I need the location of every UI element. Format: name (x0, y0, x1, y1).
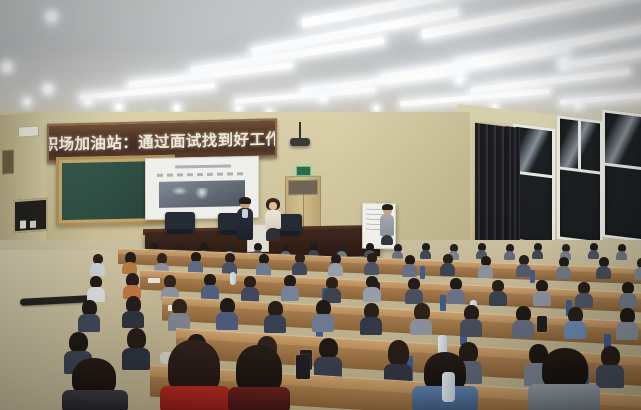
student (222, 253, 237, 273)
student-head (69, 332, 88, 353)
ceiling-downlight (174, 105, 180, 111)
student (188, 252, 203, 272)
event-banner-text: 职场加油站：通过面试找到好工作 (47, 127, 277, 155)
student-head (127, 328, 146, 350)
ceiling-downlight (456, 76, 463, 83)
presenter-in-light-top (264, 199, 282, 241)
wall-picture-frame (2, 150, 14, 175)
student (256, 254, 271, 274)
student (364, 253, 379, 273)
presenter-torso (265, 210, 281, 229)
ceiling-downlight (24, 99, 30, 105)
student (384, 340, 412, 380)
student-head (388, 340, 409, 366)
water-bottle (442, 372, 455, 402)
assistant-torso (380, 214, 394, 236)
ceiling-light-strip (470, 68, 630, 93)
foreground-dark-top (228, 387, 290, 410)
foreground-student-dark-top (228, 345, 290, 410)
student-torso (596, 365, 624, 388)
student-head (601, 346, 620, 367)
exit-sign (296, 166, 311, 176)
niche-item (20, 220, 26, 228)
standing-assistant (379, 205, 395, 245)
ceiling-light-strip (300, 68, 465, 94)
student-head (319, 338, 338, 359)
ceiling-downlight (85, 98, 91, 104)
student (90, 254, 105, 274)
presenter-face (269, 202, 277, 210)
foreground-student-red-top (160, 340, 230, 410)
window-glint (516, 127, 552, 175)
mobile-phone[interactable] (296, 355, 310, 379)
assistant-hair (382, 204, 393, 210)
ceiling-downlight (116, 104, 122, 110)
ceiling-downlight (3, 63, 11, 71)
window-pane (602, 109, 641, 243)
ceiling-downlight (320, 95, 326, 101)
slide-title-line (175, 165, 231, 169)
foreground-top (528, 384, 600, 410)
window-glint (605, 113, 641, 168)
door-transom-window (288, 180, 318, 196)
presenter-hair (239, 197, 251, 204)
ceiling-downlight (576, 102, 581, 107)
foreground-student-left (62, 358, 128, 410)
student (440, 254, 455, 274)
wall-speaker-box (18, 125, 39, 137)
window-glint (560, 119, 600, 172)
student (328, 254, 343, 274)
ceiling-downlight (560, 58, 570, 68)
projector-mount-pole (299, 122, 301, 139)
presenter-skirt (266, 228, 280, 241)
ceiling (0, 0, 641, 126)
student (292, 253, 307, 273)
stage-chair[interactable] (165, 212, 195, 230)
wall-niche (13, 198, 48, 233)
niche-item (30, 221, 36, 228)
presenter-in-dark-suit (236, 198, 254, 240)
student (596, 346, 624, 386)
ceiling-projector (290, 138, 310, 146)
ceiling-downlight (236, 106, 241, 111)
slide-image (159, 180, 244, 208)
slide-subtitle-line (157, 172, 247, 177)
ceiling-downlight (374, 106, 379, 111)
ceiling-light-strip (560, 92, 641, 105)
student (314, 338, 342, 378)
foreground-student-right (528, 348, 600, 410)
presenter-shirt (242, 209, 248, 218)
blackout-curtain-secondary[interactable] (506, 126, 520, 248)
window-pane (557, 115, 603, 245)
student (122, 252, 137, 272)
lecture-hall-photo: 职场加油站：通过面试找到好工作 (0, 0, 641, 410)
ceiling-downlight (44, 85, 52, 93)
ceiling-downlight (47, 12, 56, 21)
foreground-red-top (160, 386, 230, 410)
foreground-top (62, 390, 128, 410)
